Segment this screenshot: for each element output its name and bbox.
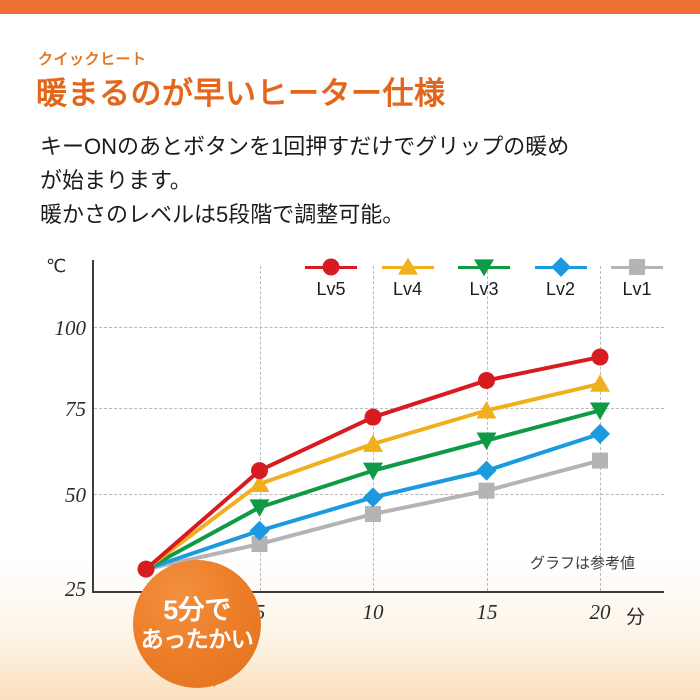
legend-swatch-lv2 [535,256,587,278]
legend-swatch-lv3 [458,256,510,278]
legend-label-lv3: Lv3 [469,279,498,300]
legend-item-lv5[interactable]: Lv5 [300,256,362,310]
legend-marker-diamond-icon [551,257,571,277]
body-line-3: 暖かさのレベルは5段階で調整可能。 [40,198,660,232]
legend-marker-square-icon [629,259,645,275]
y-axis-line [92,260,94,593]
x-tick-label-15: 15 [457,600,517,625]
y-tick-label-25: 25 [38,577,86,602]
page-title: 暖まるのが早いヒーター仕様 [36,68,446,113]
y-tick-label-75: 75 [38,397,86,422]
chart-legend: Lv5Lv4Lv3Lv2Lv1 [300,256,668,310]
legend-label-lv2: Lv2 [546,279,575,300]
callout-bubble: 5分で あったかい [133,560,261,688]
legend-label-lv5: Lv5 [316,279,345,300]
body-line-1: キーONのあとボタンを1回押すだけでグリップの暖め [40,130,660,164]
y-axis-unit-label: ℃ [46,256,66,277]
top-accent-bar [0,0,700,14]
legend-label-lv4: Lv4 [393,279,422,300]
eyebrow-text: クイックヒート [38,48,147,69]
legend-marker-triangle-down-icon [474,259,494,276]
y-tick-label-100: 100 [38,316,86,341]
page-root: クイックヒート 暖まるのが早いヒーター仕様 キーONのあとボタンを1回押すだけで… [0,0,700,700]
body-line-2: が始まります。 [40,164,660,198]
legend-swatch-lv4 [382,256,434,278]
callout-line-2: あったかい [141,625,254,653]
legend-item-lv2[interactable]: Lv2 [530,256,592,310]
legend-swatch-lv1 [611,256,663,278]
legend-label-lv1: Lv1 [622,279,651,300]
legend-item-lv3[interactable]: Lv3 [453,256,515,310]
legend-item-lv4[interactable]: Lv4 [377,256,439,310]
legend-marker-circle-icon [323,259,340,276]
body-copy: キーONのあとボタンを1回押すだけでグリップの暖め が始まります。 暖かさのレベ… [40,130,660,232]
temperature-chart: ℃ 分 100 75 50 25 0 5 10 15 20 グラフは参考値 Lv… [0,248,700,668]
legend-marker-triangle-up-icon [398,258,418,275]
legend-swatch-lv5 [305,256,357,278]
x-tick-label-10: 10 [343,600,403,625]
legend-item-lv1[interactable]: Lv1 [606,256,668,310]
y-tick-label-50: 50 [38,483,86,508]
x-tick-label-20: 20 [570,600,630,625]
callout-line-1: 5分で [163,595,231,625]
